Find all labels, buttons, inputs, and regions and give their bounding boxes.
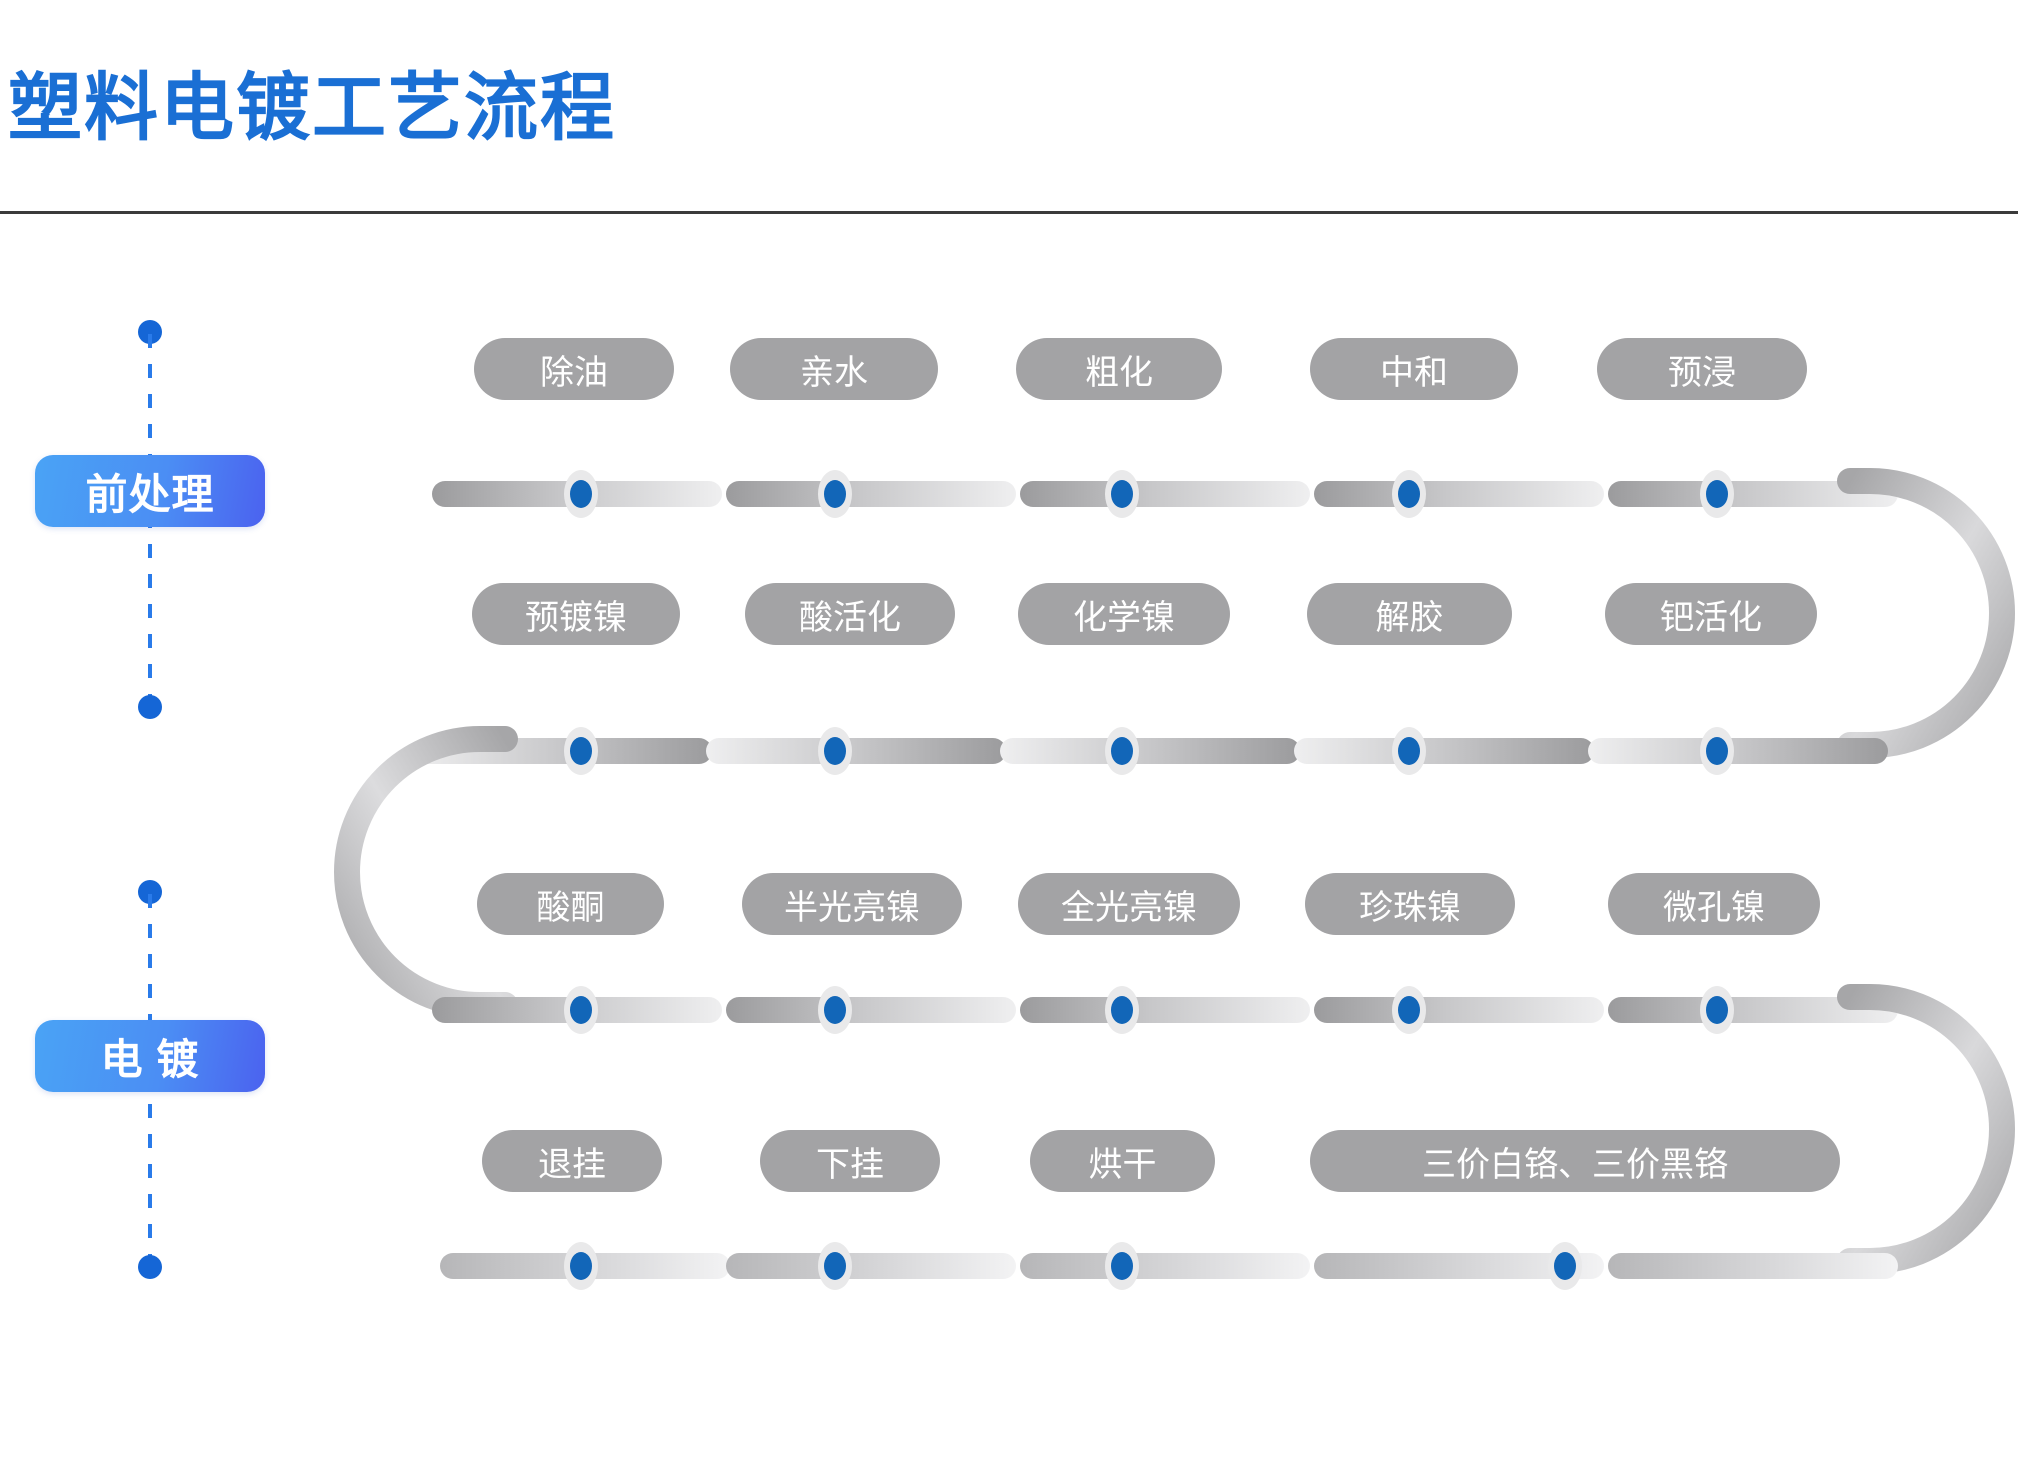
flow-rail-3-b — [726, 997, 1016, 1023]
step-pill-label: 亲水 — [800, 345, 868, 394]
flow-rail-4-c — [1020, 1253, 1310, 1279]
step-pill-label: 解胶 — [1376, 590, 1444, 639]
step-pill-4-3[interactable]: 烘干 — [1030, 1130, 1215, 1192]
flow-node-3-3 — [1105, 986, 1139, 1034]
flow-node-1-3 — [1105, 470, 1139, 518]
flow-rail-1-b — [726, 481, 1016, 507]
flow-node-3-1 — [564, 986, 598, 1034]
step-pill-3-5[interactable]: 微孔镍 — [1608, 873, 1820, 935]
flow-rail-3-d — [1314, 997, 1604, 1023]
flow-arc-right-upper — [1850, 468, 2018, 758]
flow-node-2-1 — [564, 727, 598, 775]
step-pill-label: 珍珠镍 — [1359, 880, 1461, 929]
step-pill-label: 下挂 — [816, 1137, 884, 1186]
step-pill-2-5[interactable]: 钯活化 — [1605, 583, 1817, 645]
step-pill-4-2[interactable]: 下挂 — [760, 1130, 940, 1192]
step-pill-label: 预镀镍 — [525, 590, 627, 639]
flow-rail-2-d — [1294, 738, 1594, 764]
flow-rail-1-c — [1020, 481, 1310, 507]
step-pill-label: 化学镍 — [1073, 590, 1175, 639]
flow-node-1-2 — [818, 470, 852, 518]
step-pill-4-1[interactable]: 退挂 — [482, 1130, 662, 1192]
flow-node-1-5 — [1700, 470, 1734, 518]
step-pill-label: 酸酮 — [537, 880, 605, 929]
step-pill-label: 钯活化 — [1660, 590, 1762, 639]
step-pill-2-3[interactable]: 化学镍 — [1018, 583, 1230, 645]
flow-node-4-1 — [564, 1242, 598, 1290]
step-pill-label: 全光亮镍 — [1061, 880, 1197, 929]
step-pill-2-1[interactable]: 预镀镍 — [472, 583, 680, 645]
stage-badge-electroplating-label: 电 镀 — [101, 1026, 200, 1087]
flow-node-2-3 — [1105, 727, 1139, 775]
step-pill-3-2[interactable]: 半光亮镍 — [742, 873, 962, 935]
step-pill-3-4[interactable]: 珍珠镍 — [1305, 873, 1515, 935]
stage-badge-pretreatment-label: 前处理 — [85, 461, 214, 522]
flow-node-3-4 — [1392, 986, 1426, 1034]
flow-rail-3-c — [1020, 997, 1310, 1023]
step-pill-label: 酸活化 — [799, 590, 901, 639]
step-pill-1-5[interactable]: 预浸 — [1597, 338, 1807, 400]
step-pill-label: 半光亮镍 — [784, 880, 920, 929]
flow-rail-2-e — [1588, 738, 1888, 764]
diagram-canvas: 塑料电镀工艺流程 前处理 电 镀 除油 亲水 粗化 中和 预浸 — [0, 0, 2018, 1465]
step-pill-label: 退挂 — [538, 1137, 606, 1186]
flow-rail-2-c — [1000, 738, 1300, 764]
step-pill-1-1[interactable]: 除油 — [474, 338, 674, 400]
step-pill-label: 微孔镍 — [1663, 880, 1765, 929]
flow-node-2-4 — [1392, 727, 1426, 775]
flow-node-2-2 — [818, 727, 852, 775]
step-pill-label: 三价白铬、三价黑铬 — [1422, 1137, 1728, 1186]
flow-node-2-5 — [1700, 727, 1734, 775]
flow-rail-4-e — [1608, 1253, 1898, 1279]
flow-node-4-2 — [818, 1242, 852, 1290]
step-pill-label: 预浸 — [1668, 345, 1736, 394]
flow-arc-right-lower — [1850, 984, 2018, 1274]
axis-dot-bottom-pretreatment — [138, 695, 162, 719]
step-pill-label: 烘干 — [1089, 1137, 1157, 1186]
flow-node-3-2 — [818, 986, 852, 1034]
step-pill-3-3[interactable]: 全光亮镍 — [1018, 873, 1240, 935]
step-pill-1-4[interactable]: 中和 — [1310, 338, 1518, 400]
flow-node-4-3 — [1105, 1242, 1139, 1290]
header-divider — [0, 211, 2018, 214]
step-pill-3-1[interactable]: 酸酮 — [477, 873, 664, 935]
flow-node-4-4 — [1548, 1242, 1582, 1290]
flow-node-1-4 — [1392, 470, 1426, 518]
flow-rail-2-b — [706, 738, 1006, 764]
flow-rail-4-b — [726, 1253, 1016, 1279]
step-pill-2-2[interactable]: 酸活化 — [745, 583, 955, 645]
step-pill-label: 除油 — [540, 345, 608, 394]
flow-arc-left — [325, 726, 505, 1018]
axis-dot-bottom-electroplating — [138, 1255, 162, 1279]
flow-rail-1-d — [1314, 481, 1604, 507]
step-pill-1-2[interactable]: 亲水 — [730, 338, 938, 400]
stage-badge-electroplating[interactable]: 电 镀 — [35, 1020, 265, 1092]
step-pill-label: 粗化 — [1085, 345, 1153, 394]
flow-node-1-1 — [564, 470, 598, 518]
stage-badge-pretreatment[interactable]: 前处理 — [35, 455, 265, 527]
step-pill-4-4[interactable]: 三价白铬、三价黑铬 — [1310, 1130, 1840, 1192]
flow-node-3-5 — [1700, 986, 1734, 1034]
step-pill-label: 中和 — [1380, 345, 1448, 394]
step-pill-1-3[interactable]: 粗化 — [1016, 338, 1222, 400]
step-pill-2-4[interactable]: 解胶 — [1307, 583, 1512, 645]
page-title: 塑料电镀工艺流程 — [8, 48, 616, 155]
